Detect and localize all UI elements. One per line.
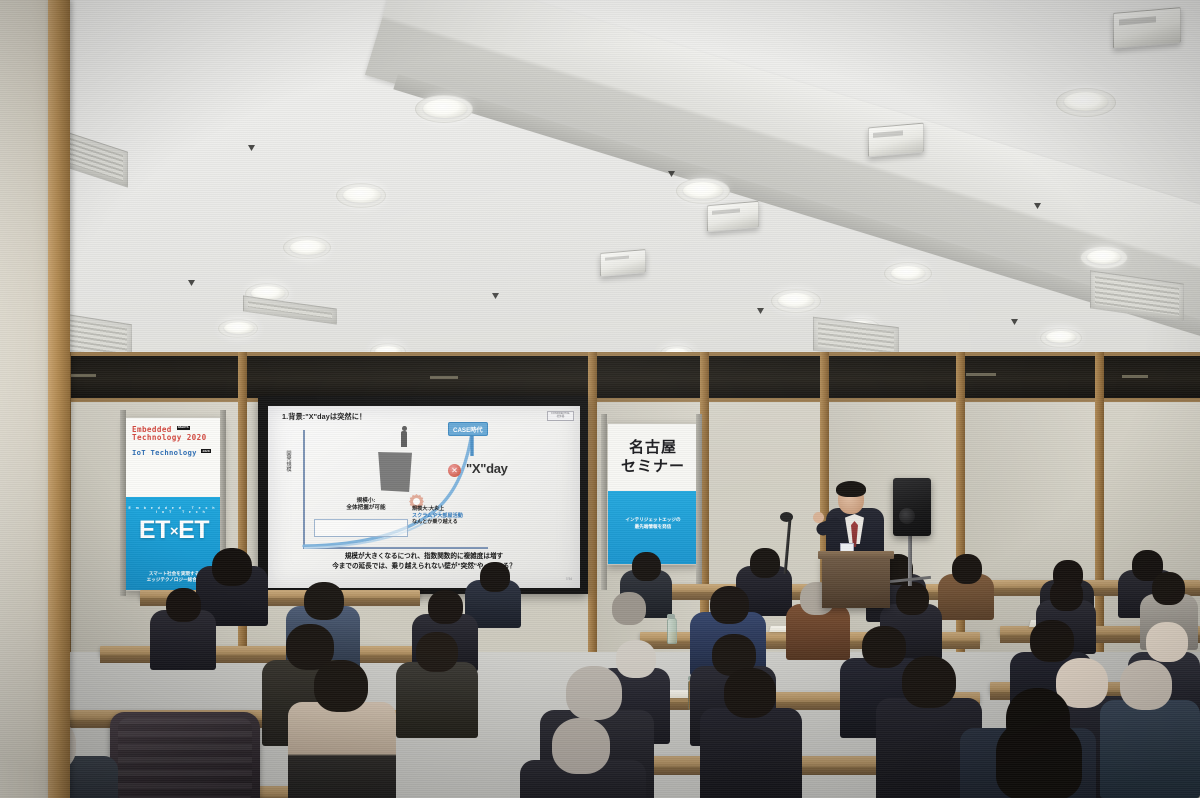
confidential-sublabel: 社外秘: [551, 416, 570, 419]
note-large-scale-line1: 規模大:大炎上: [412, 506, 502, 513]
note-large-scale: 規模大:大炎上 スクラムや大部屋活動 なんとか乗り越える: [412, 506, 502, 526]
lectern: [822, 556, 890, 608]
presenter-hand: [813, 512, 824, 523]
coat-on-chair: [110, 712, 260, 798]
case-era-badge: CASE時代: [448, 422, 488, 436]
microphone-icon: [780, 512, 793, 522]
note-small-scale: 規模小: 全体把握が可能: [323, 498, 409, 513]
note-left-box: [314, 519, 408, 537]
etxet-logo: ET×ET: [126, 516, 222, 545]
nagoya-title-line2: セミナー: [621, 458, 685, 477]
ceiling-downlight: [1046, 331, 1076, 343]
banner-year2: 2020: [201, 449, 210, 453]
gear-hub-icon: [413, 498, 420, 505]
slide-title: 1.背景:"X"dayは突然に！: [282, 412, 366, 422]
sprinkler-head-icon: [492, 293, 499, 299]
ceiling-mounted-box: [868, 123, 924, 158]
ceiling-mounted-box: [707, 201, 759, 233]
nagoya-banner-top: 名古屋 セミナー: [608, 424, 698, 491]
ac-vent: [243, 295, 337, 324]
banner-line3-text: IoT Technology: [132, 448, 197, 457]
banner-top-section: Embedded NAGOYA Technology 2020 IoT Tech…: [126, 418, 222, 497]
person-silhouette-body: [401, 431, 407, 447]
presenter-hair: [836, 481, 866, 497]
pa-loudspeaker: [893, 478, 931, 536]
banner-nagoya-badge: NAGOYA: [177, 426, 190, 429]
xday-label: "X"day: [466, 461, 508, 476]
banner-sup-right: IoT Tech: [156, 510, 210, 514]
note-large-scale-line3: なんとか乗り越える: [412, 519, 502, 526]
chart-y-axis-label: 開発規模: [285, 452, 293, 474]
sprinkler-head-icon: [1011, 319, 1018, 325]
ceiling-downlight: [1087, 250, 1121, 264]
nagoya-seminar-banner: 名古屋 セミナー インテリジェットエッジの 最先端情報を発信: [607, 423, 699, 565]
ceiling-mounted-box: [600, 249, 646, 277]
sprinkler-head-icon: [248, 145, 255, 151]
sprinkler-head-icon: [188, 280, 195, 286]
nagoya-banner-tagline: インテリジェットエッジの 最先端情報を発信: [608, 516, 698, 531]
lectern-top: [818, 551, 894, 559]
ceiling-downlight: [343, 187, 381, 203]
sprinkler-head-icon: [757, 308, 764, 314]
x-mark-icon: ✕: [448, 464, 461, 477]
ceiling-downlight: [778, 293, 814, 308]
etxet-logo-left: ET: [139, 516, 170, 544]
person-silhouette-head: [402, 426, 407, 431]
nagoya-seminar-title: 名古屋 セミナー: [621, 439, 685, 477]
long-hair: [996, 720, 1082, 798]
banner-year1: 2020: [187, 433, 207, 442]
confidential-stamp: CONFIDENTIAL 社外秘: [547, 411, 574, 421]
ceiling-downlight: [891, 266, 925, 280]
water-bottle: [667, 618, 677, 644]
nagoya-tagline-line1: インテリジェットエッジの: [608, 516, 698, 523]
banner-line2-text: Technology: [132, 433, 182, 442]
etxet-logo-right: ET: [178, 516, 209, 544]
banner-iot-line: IoT Technology 2020: [132, 448, 211, 457]
ceiling-mounted-box: [1113, 7, 1181, 49]
nagoya-title-line1: 名古屋: [621, 439, 685, 458]
banner-embedded-line: Embedded NAGOYA Technology 2020: [132, 426, 207, 442]
audience-seating-area: [0, 560, 1200, 798]
ceiling-downlight: [290, 240, 326, 255]
ceiling-downlight: [423, 99, 467, 118]
transom-window-band: [0, 352, 1200, 402]
ceiling: [0, 0, 1200, 400]
ceiling-downlight: [683, 182, 723, 199]
etxet-logo-x: ×: [170, 523, 178, 540]
bottle-cap: [667, 614, 675, 618]
note-small-scale-line2: 全体把握が可能: [323, 505, 409, 512]
ceiling-downlight: [1064, 92, 1108, 111]
ceiling-downlight: [224, 322, 254, 334]
seminar-room-photo: 1.背景:"X"dayは突然に！ CONFIDENTIAL 社外秘 開発規模 C…: [0, 0, 1200, 798]
banner-logo-superscript: Embedded Tech IoT Tech: [126, 506, 222, 514]
door-jamb-trim: [48, 0, 70, 798]
cliff-shape: [376, 452, 412, 492]
nagoya-tagline-line2: 最先端情報を発信: [608, 523, 698, 530]
